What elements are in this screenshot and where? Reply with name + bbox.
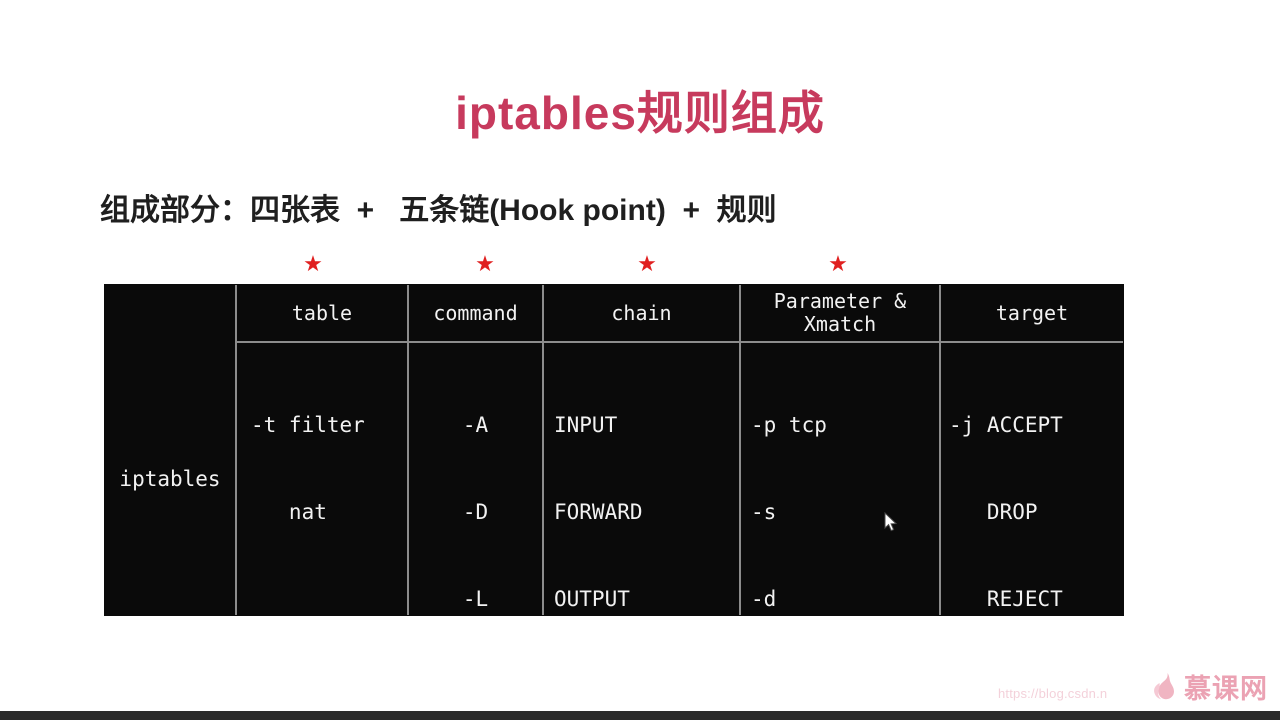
cell-line: -p tcp — [751, 411, 939, 440]
page-title: iptables规则组成 — [0, 88, 1280, 139]
cell-line: -L — [409, 585, 542, 614]
column-header-chain: chain — [544, 285, 739, 343]
cell-line: DROP — [949, 498, 1123, 527]
table-column-command: command -A -D -L -F -P -I -R -n — [409, 285, 544, 615]
column-header-command: command — [409, 285, 542, 343]
table-column-table: table -t filter nat — [237, 285, 409, 615]
cell-line: -s — [751, 498, 939, 527]
cell-line: iptables — [119, 465, 220, 494]
imooc-logo-text: 慕课网 — [1184, 676, 1268, 703]
cell-line: FORWARD — [554, 498, 739, 527]
cell-line: OUTPUT — [554, 585, 739, 614]
star-marker-row: ★ ★ ★ ★ — [0, 253, 1280, 283]
cell-line: -t filter — [251, 411, 407, 440]
cell-target-values: -j ACCEPT DROP REJECT DNAT SNAT — [941, 343, 1123, 615]
cell-table-values: -t filter nat — [237, 343, 407, 615]
cell-command-values: -A -D -L -F -P -I -R -n — [409, 343, 542, 615]
subtitle-text: 组成部分：四张表 + 五条链(Hook point) + 规则 — [100, 192, 1200, 230]
slide-canvas: iptables规则组成 组成部分：四张表 + 五条链(Hook point) … — [0, 0, 1280, 720]
column-header-blank — [105, 285, 235, 343]
iptables-rule-table: iptables table -t filter nat command -A … — [104, 284, 1124, 616]
star-icon-table: ★ — [303, 253, 323, 275]
cell-parameter-values: -p tcp -s -d --sport --dport --dports -m… — [741, 343, 939, 615]
cell-line: -j ACCEPT — [949, 411, 1123, 440]
star-icon-command: ★ — [475, 253, 495, 275]
table-column-command-name: iptables — [105, 285, 237, 615]
cell-line: REJECT — [949, 585, 1123, 614]
csdn-url-watermark: https://blog.csdn.n — [998, 686, 1107, 701]
star-icon-chain: ★ — [637, 253, 657, 275]
table-column-parameter-xmatch: Parameter & Xmatch -p tcp -s -d --sport … — [741, 285, 941, 615]
cell-line: -A — [409, 411, 542, 440]
cell-line: INPUT — [554, 411, 739, 440]
imooc-watermark: 慕课网 — [1152, 672, 1268, 707]
column-header-table: table — [237, 285, 407, 343]
star-icon-parameter: ★ — [828, 253, 848, 275]
cell-line: -D — [409, 498, 542, 527]
table-column-chain: chain INPUT FORWARD OUTPUT PREROUTING PO… — [544, 285, 741, 615]
cell-iptables: iptables — [105, 343, 235, 615]
bottom-bar — [0, 711, 1280, 720]
cell-line: nat — [251, 498, 407, 527]
cell-chain-values: INPUT FORWARD OUTPUT PREROUTING POSTROUT… — [544, 343, 739, 615]
table-column-target: target -j ACCEPT DROP REJECT DNAT SNAT — [941, 285, 1123, 615]
flame-icon — [1152, 672, 1178, 707]
column-header-target: target — [941, 285, 1123, 343]
cell-line: -d — [751, 585, 939, 614]
column-header-parameter-xmatch: Parameter & Xmatch — [741, 285, 939, 343]
